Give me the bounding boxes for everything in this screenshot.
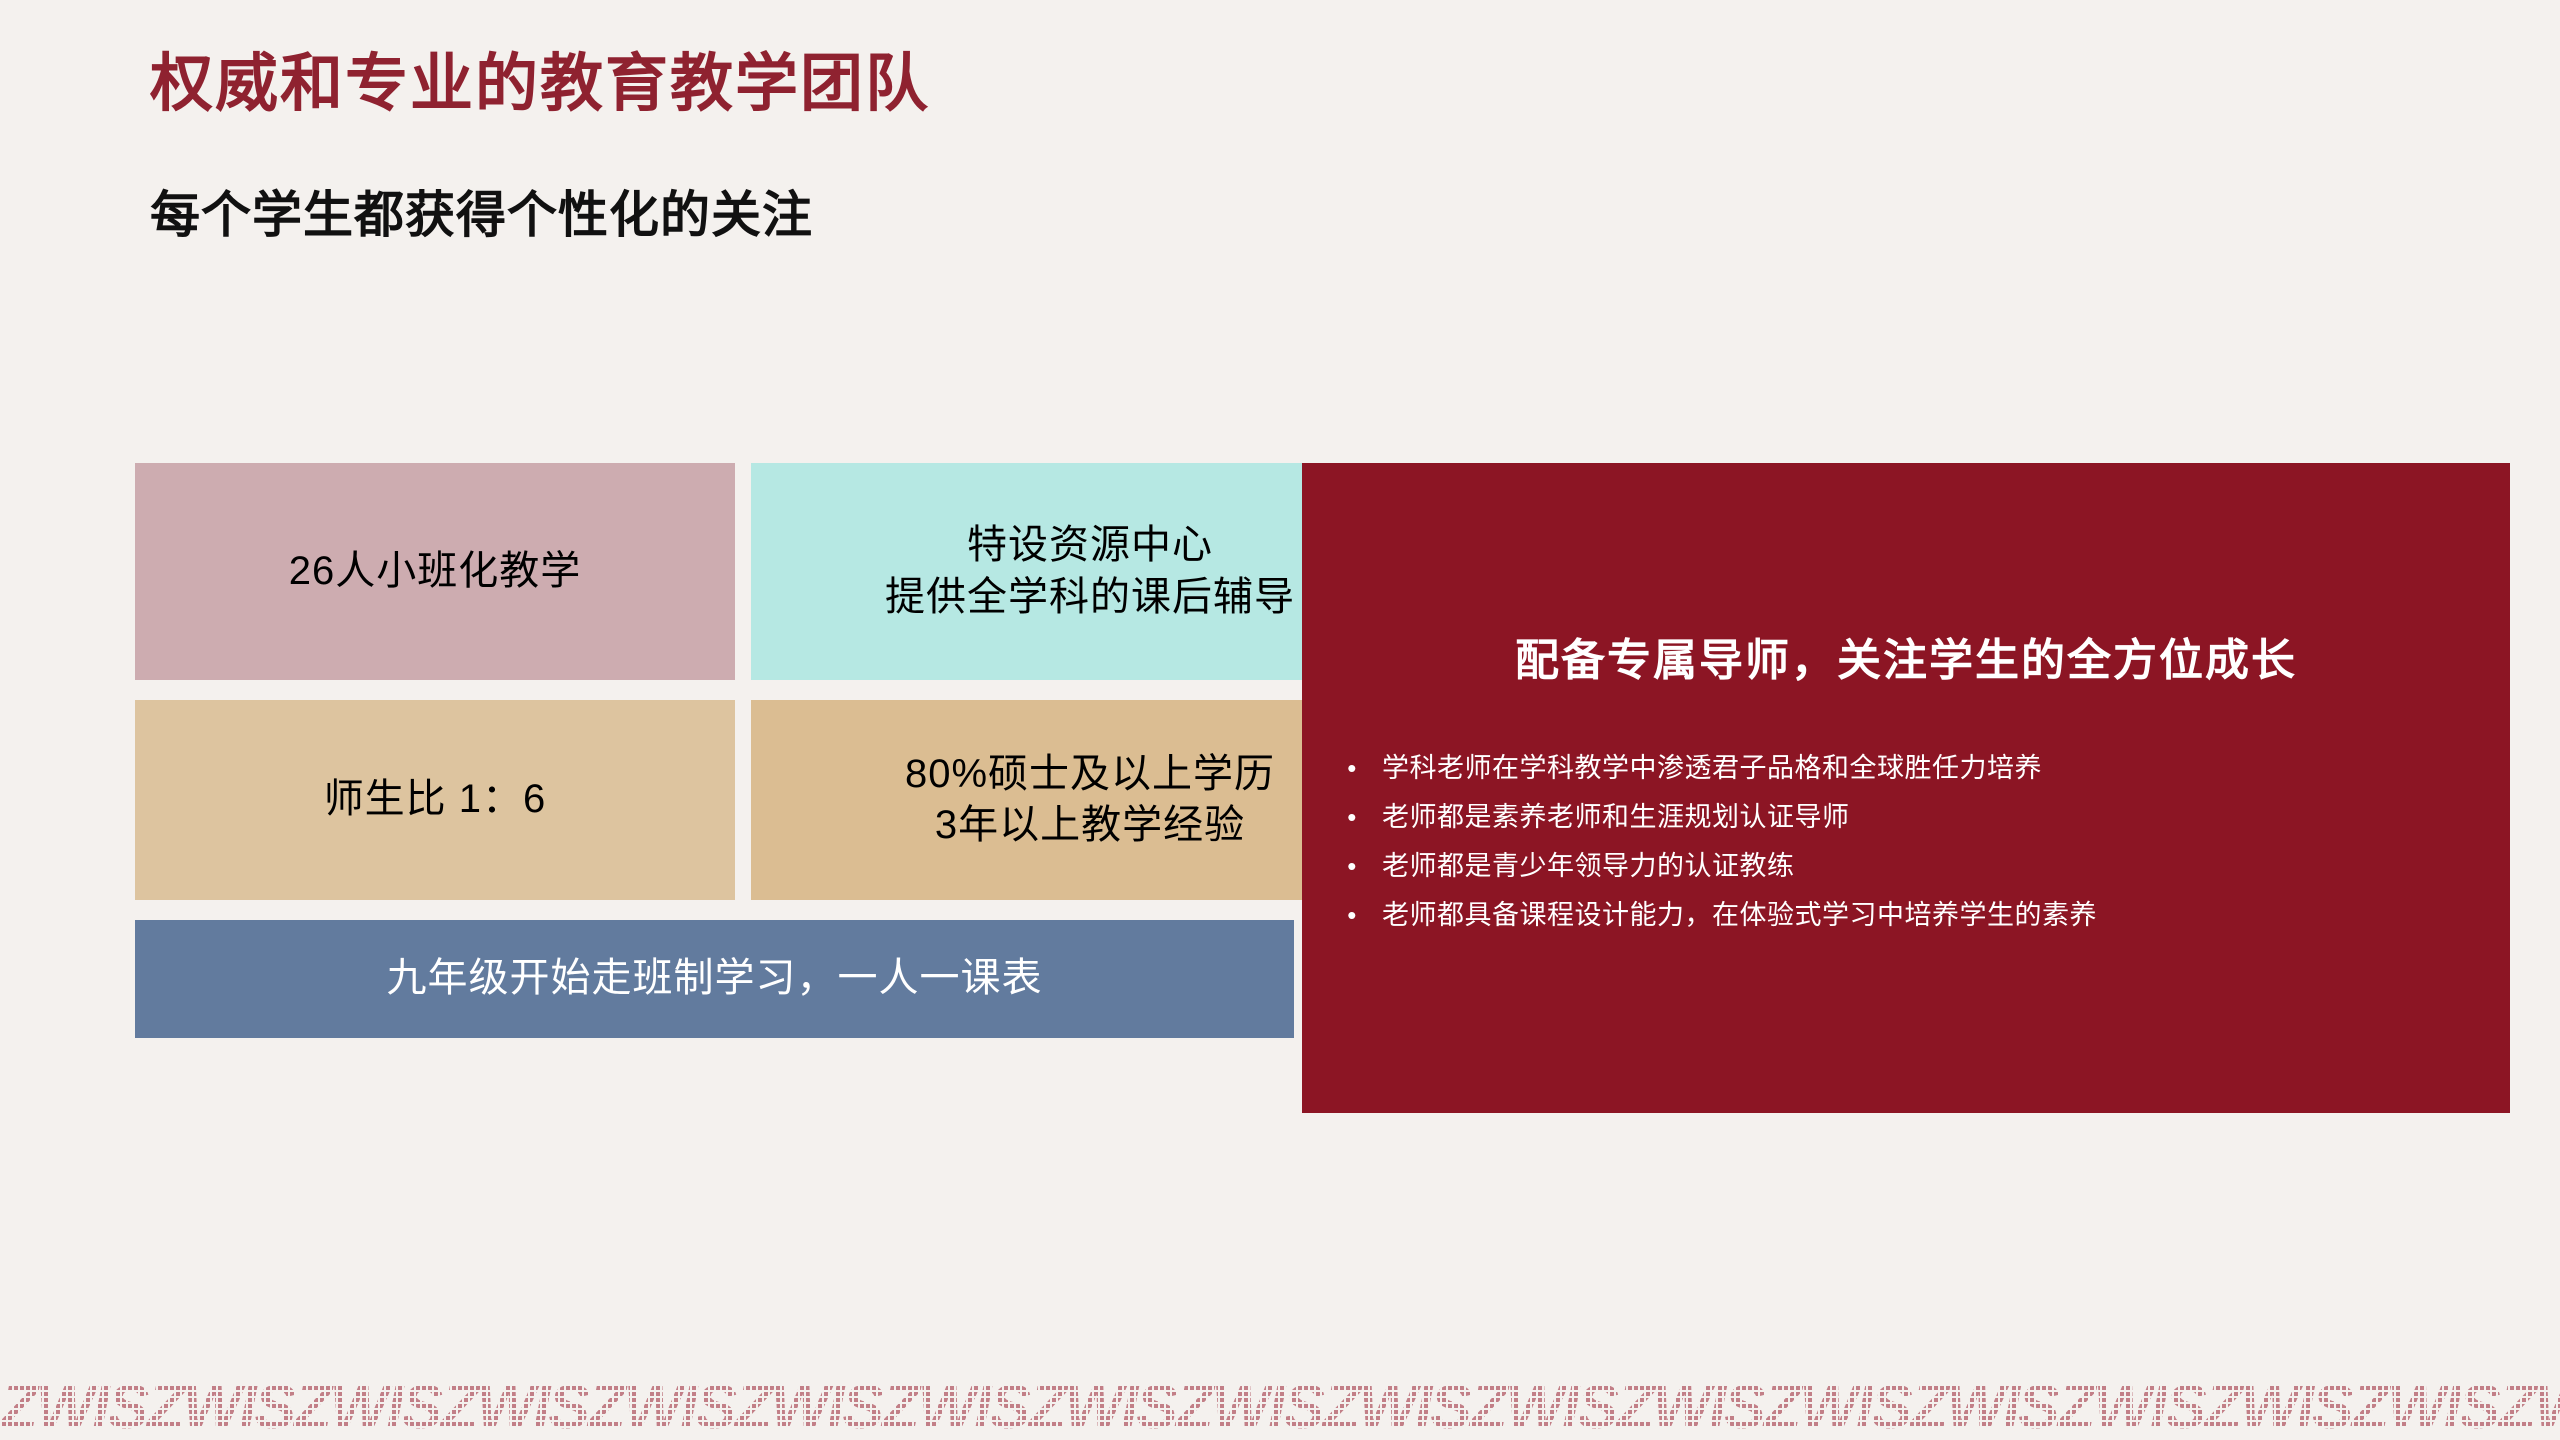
stat-tile-label: 特设资源中心 提供全学科的课后辅导 [885,520,1295,622]
mentor-bullet-list: • 学科老师在学科教学中渗透君子品格和全球胜任力培养 • 老师都是素养老师和生涯… [1322,755,2472,951]
stat-tile-label: 80%硕士及以上学历 3年以上教学经验 [905,749,1275,851]
bullet-dot-icon: • [1322,755,1382,781]
bullet-dot-icon: • [1322,902,1382,928]
bullet-dot-icon: • [1322,853,1382,879]
watermark-text: ZWISZWISZWISZWISZWISZWISZWISZWISZWISZWIS… [0,1377,2560,1439]
stat-tile-grade9-scheduling: 九年级开始走班制学习，一人一课表 [135,920,1294,1038]
page-subtitle: 每个学生都获得个性化的关注 [150,188,813,243]
list-item-label: 老师都具备课程设计能力，在体验式学习中培养学生的素养 [1382,902,2472,929]
stat-tile-teacher-student-ratio: 师生比 1：6 [135,700,735,900]
list-item: • 学科老师在学科教学中渗透君子品格和全球胜任力培养 [1322,755,2472,804]
list-item-label: 老师都是素养老师和生涯规划认证导师 [1382,804,2472,831]
list-item: • 老师都是素养老师和生涯规划认证导师 [1322,804,2472,853]
list-item: • 老师都是青少年领导力的认证教练 [1322,853,2472,902]
mentor-panel-heading: 配备专属导师，关注学生的全方位成长 [1302,635,2510,688]
bullet-dot-icon: • [1322,804,1382,830]
slide-canvas: 权威和专业的教育教学团队 每个学生都获得个性化的关注 26人小班化教学 特设资源… [0,0,2560,1440]
list-item-label: 老师都是青少年领导力的认证教练 [1382,853,2472,880]
stat-tile-label: 26人小班化教学 [289,546,582,597]
stat-tile-class-size: 26人小班化教学 [135,463,735,680]
list-item-label: 学科老师在学科教学中渗透君子品格和全球胜任力培养 [1382,755,2472,782]
page-title: 权威和专业的教育教学团队 [150,50,930,119]
stat-tile-label: 师生比 1：6 [324,774,547,825]
list-item: • 老师都具备课程设计能力，在体验式学习中培养学生的素养 [1322,902,2472,951]
stat-tile-label: 九年级开始走班制学习，一人一课表 [387,953,1043,1004]
mentor-panel: 配备专属导师，关注学生的全方位成长 • 学科老师在学科教学中渗透君子品格和全球胜… [1302,463,2510,1113]
footer-watermark: ZWISZWISZWISZWISZWISZWISZWISZWISZWISZWIS… [0,1372,2560,1440]
